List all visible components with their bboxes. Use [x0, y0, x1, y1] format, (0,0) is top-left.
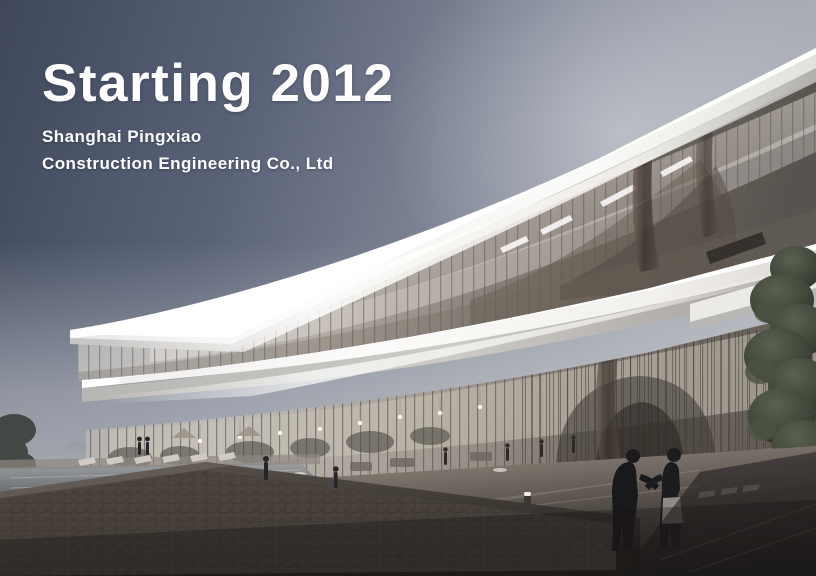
- subtitle-group: Shanghai Pingxiao Construction Engineeri…: [42, 124, 394, 178]
- company-name-line-2: Construction Engineering Co., Ltd: [42, 151, 394, 178]
- page-title: Starting 2012: [42, 56, 394, 111]
- company-name-line-1: Shanghai Pingxiao: [42, 124, 394, 151]
- title-slide: Starting 2012 Shanghai Pingxiao Construc…: [0, 0, 816, 576]
- title-block: Starting 2012 Shanghai Pingxiao Construc…: [42, 56, 394, 178]
